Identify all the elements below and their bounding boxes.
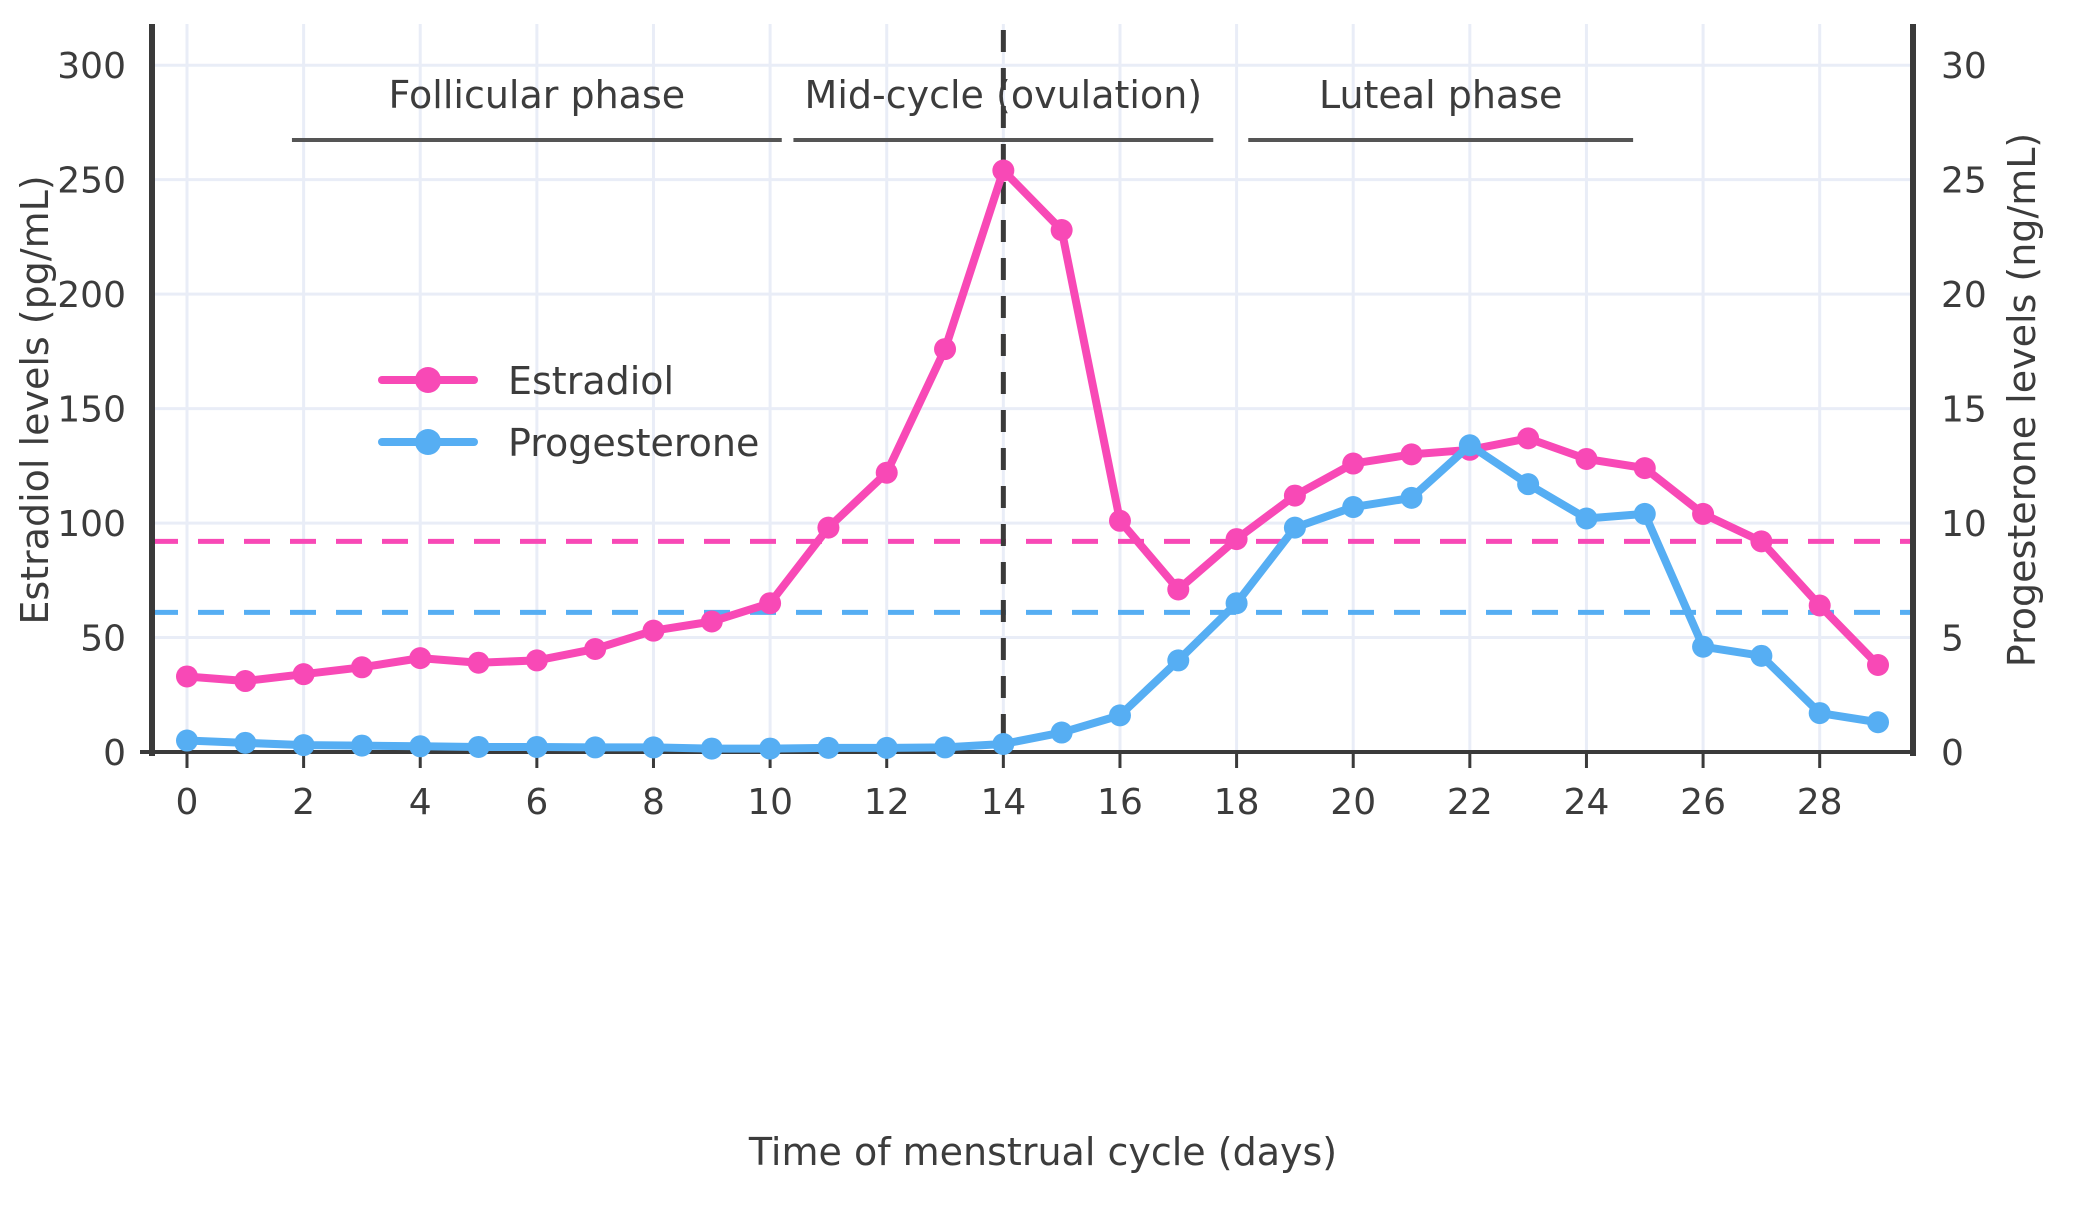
data-point <box>1750 530 1772 552</box>
data-point <box>934 338 956 360</box>
chart-figure: 0501001502002503000510152025300246810121… <box>0 0 2077 1208</box>
data-point <box>1867 711 1889 733</box>
y-right-tick-label: 0 <box>1941 733 1964 774</box>
data-point <box>526 649 548 671</box>
data-point <box>293 734 315 756</box>
x-tick-label: 8 <box>642 782 665 823</box>
y-right-axis-title: Progesterone levels (ng/mL) <box>2000 133 2044 668</box>
data-point <box>759 592 781 614</box>
data-point <box>1809 702 1831 724</box>
data-point <box>1051 722 1073 744</box>
data-point <box>934 736 956 758</box>
data-point <box>1284 517 1306 539</box>
chart-background <box>0 0 2077 1208</box>
y-left-tick-label: 100 <box>57 504 126 545</box>
x-tick-label: 0 <box>176 782 199 823</box>
legend-label: Estradiol <box>508 359 674 403</box>
data-point <box>1750 645 1772 667</box>
data-point <box>1342 453 1364 475</box>
data-point <box>1692 636 1714 658</box>
data-point <box>1517 427 1539 449</box>
legend-marker-dot <box>415 367 441 393</box>
legend-marker-dot <box>415 429 441 455</box>
data-point <box>1634 457 1656 479</box>
data-point <box>351 656 373 678</box>
data-point <box>1634 503 1656 525</box>
data-point <box>1109 704 1131 726</box>
y-right-tick-label: 5 <box>1941 619 1964 660</box>
data-point <box>1167 649 1189 671</box>
data-point <box>876 462 898 484</box>
x-tick-label: 18 <box>1214 782 1260 823</box>
x-tick-label: 24 <box>1564 782 1610 823</box>
x-tick-label: 22 <box>1447 782 1493 823</box>
y-left-tick-label: 300 <box>57 46 126 87</box>
data-point <box>642 620 664 642</box>
y-left-axis-title: Estradiol levels (pg/mL) <box>13 175 57 624</box>
x-tick-label: 4 <box>409 782 432 823</box>
data-point <box>1575 507 1597 529</box>
data-point <box>293 663 315 685</box>
y-left-tick-label: 200 <box>57 275 126 316</box>
data-point <box>1342 496 1364 518</box>
data-point <box>1867 654 1889 676</box>
data-point <box>1284 485 1306 507</box>
data-point <box>176 730 198 752</box>
data-point <box>701 738 723 760</box>
data-point <box>1051 219 1073 241</box>
data-point <box>1226 592 1248 614</box>
data-point <box>992 733 1014 755</box>
data-point <box>701 611 723 633</box>
data-point <box>876 737 898 759</box>
x-tick-label: 2 <box>292 782 315 823</box>
y-left-tick-label: 0 <box>103 733 126 774</box>
phase-label: Mid-cycle (ovulation) <box>805 73 1203 117</box>
x-tick-label: 6 <box>525 782 548 823</box>
data-point <box>642 736 664 758</box>
data-point <box>234 670 256 692</box>
data-point <box>1809 594 1831 616</box>
y-left-tick-label: 50 <box>80 619 126 660</box>
data-point <box>992 160 1014 182</box>
legend-label: Progesterone <box>508 421 759 465</box>
y-right-tick-label: 10 <box>1941 504 1987 545</box>
data-point <box>409 735 431 757</box>
y-right-tick-label: 15 <box>1941 390 1987 431</box>
x-tick-label: 26 <box>1680 782 1726 823</box>
data-point <box>234 732 256 754</box>
x-tick-label: 12 <box>864 782 910 823</box>
data-point <box>1226 528 1248 550</box>
x-tick-label: 28 <box>1797 782 1843 823</box>
y-left-tick-label: 250 <box>57 161 126 202</box>
data-point <box>1459 434 1481 456</box>
data-point <box>1692 503 1714 525</box>
x-tick-label: 14 <box>980 782 1026 823</box>
y-right-tick-label: 30 <box>1941 46 1987 87</box>
data-point <box>584 638 606 660</box>
data-point <box>1167 578 1189 600</box>
data-point <box>468 652 490 674</box>
data-point <box>351 735 373 757</box>
data-point <box>584 736 606 758</box>
data-point <box>468 736 490 758</box>
y-right-tick-label: 20 <box>1941 275 1987 316</box>
x-tick-label: 20 <box>1330 782 1376 823</box>
data-point <box>176 665 198 687</box>
y-right-tick-label: 25 <box>1941 161 1987 202</box>
x-tick-label: 10 <box>747 782 793 823</box>
data-point <box>817 737 839 759</box>
data-point <box>1401 443 1423 465</box>
data-point <box>1575 448 1597 470</box>
hormone-levels-line-chart: 0501001502002503000510152025300246810121… <box>0 0 2077 1208</box>
phase-label: Follicular phase <box>389 73 686 117</box>
data-point <box>526 736 548 758</box>
x-tick-label: 16 <box>1097 782 1143 823</box>
data-point <box>1401 487 1423 509</box>
data-point <box>759 738 781 760</box>
data-point <box>1517 473 1539 495</box>
data-point <box>409 647 431 669</box>
data-point <box>1109 510 1131 532</box>
y-left-tick-label: 150 <box>57 390 126 431</box>
data-point <box>817 517 839 539</box>
phase-label: Luteal phase <box>1319 73 1562 117</box>
x-axis-title: Time of menstrual cycle (days) <box>748 1130 1337 1174</box>
